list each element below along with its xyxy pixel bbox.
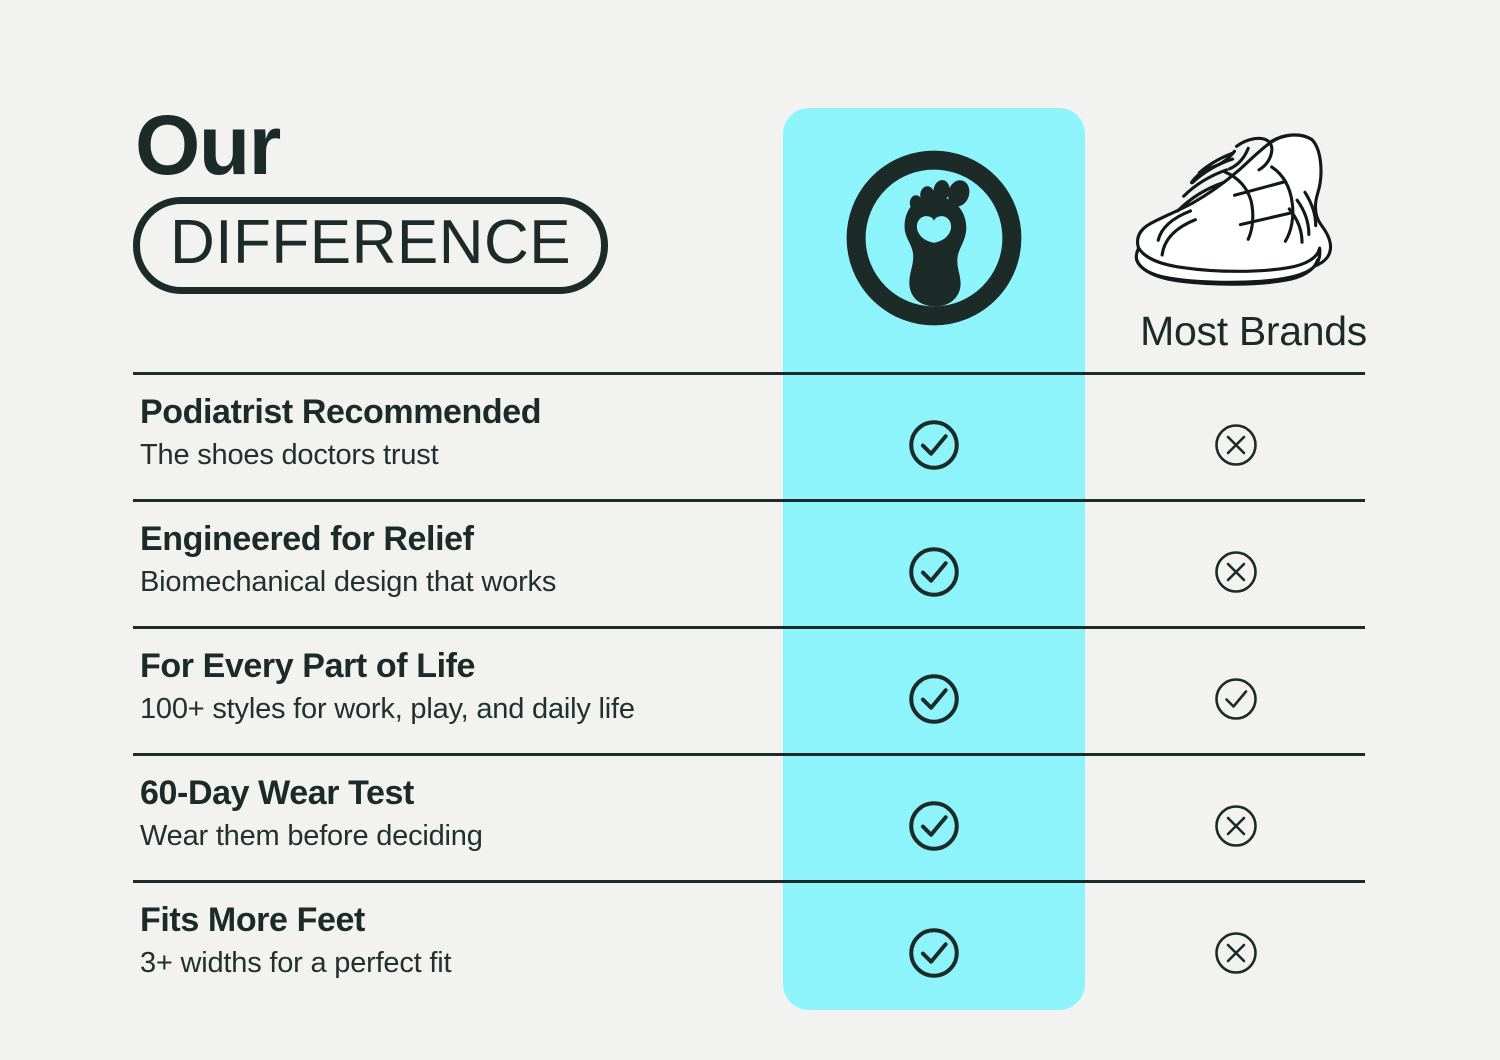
page-title-pill: DIFFERENCE	[133, 197, 608, 294]
check-circle-icon	[906, 417, 962, 473]
row-text: For Every Part of Life100+ styles for wo…	[140, 647, 760, 727]
cell-most-brands	[1085, 421, 1387, 469]
check-circle-icon	[906, 798, 962, 854]
cross-circle-icon	[1212, 929, 1260, 977]
cell-most-brands	[1085, 802, 1387, 850]
row-subtitle: Biomechanical design that works	[140, 565, 760, 600]
row-title: Engineered for Relief	[140, 520, 760, 559]
row-subtitle: 3+ widths for a perfect fit	[140, 946, 760, 981]
page-title: Our DIFFERENCE	[133, 103, 753, 294]
cross-circle-icon	[1212, 802, 1260, 850]
table-row: Podiatrist RecommendedThe shoes doctors …	[0, 375, 1500, 501]
table-row: Fits More Feet3+ widths for a perfect fi…	[0, 883, 1500, 1009]
row-text: Fits More Feet3+ widths for a perfect fi…	[140, 901, 760, 981]
row-title: 60-Day Wear Test	[140, 774, 760, 813]
competitor-label: Most Brands	[1085, 308, 1367, 355]
footprint-heart-circle-icon	[839, 143, 1029, 333]
cell-ours	[783, 798, 1085, 854]
cross-circle-icon	[1212, 548, 1260, 596]
cell-ours	[783, 925, 1085, 981]
sneaker-illustration-icon	[1123, 118, 1348, 296]
row-text: 60-Day Wear TestWear them before decidin…	[140, 774, 760, 854]
row-text: Podiatrist RecommendedThe shoes doctors …	[140, 393, 760, 473]
check-circle-icon	[906, 544, 962, 600]
row-title: Fits More Feet	[140, 901, 760, 940]
table-row: For Every Part of Life100+ styles for wo…	[0, 629, 1500, 755]
row-title: Podiatrist Recommended	[140, 393, 760, 432]
cell-ours	[783, 671, 1085, 727]
competitor-column-header: Most Brands	[1085, 118, 1375, 358]
check-circle-icon	[1212, 675, 1260, 723]
cell-most-brands	[1085, 548, 1387, 596]
row-title: For Every Part of Life	[140, 647, 760, 686]
row-subtitle: The shoes doctors trust	[140, 438, 760, 473]
sneaker-illustration	[1123, 118, 1348, 301]
table-row: 60-Day Wear TestWear them before decidin…	[0, 756, 1500, 882]
row-subtitle: Wear them before deciding	[140, 819, 760, 854]
page-title-line-2: DIFFERENCE	[170, 210, 571, 277]
cell-most-brands	[1085, 675, 1387, 723]
cell-ours	[783, 417, 1085, 473]
row-subtitle: 100+ styles for work, play, and daily li…	[140, 692, 760, 727]
cell-ours	[783, 544, 1085, 600]
table-row: Engineered for ReliefBiomechanical desig…	[0, 502, 1500, 628]
row-text: Engineered for ReliefBiomechanical desig…	[140, 520, 760, 600]
cell-most-brands	[1085, 929, 1387, 977]
check-circle-icon	[906, 925, 962, 981]
cross-circle-icon	[1212, 421, 1260, 469]
page-title-line-1: Our	[135, 103, 753, 187]
brand-logo	[783, 130, 1085, 345]
check-circle-icon	[906, 671, 962, 727]
